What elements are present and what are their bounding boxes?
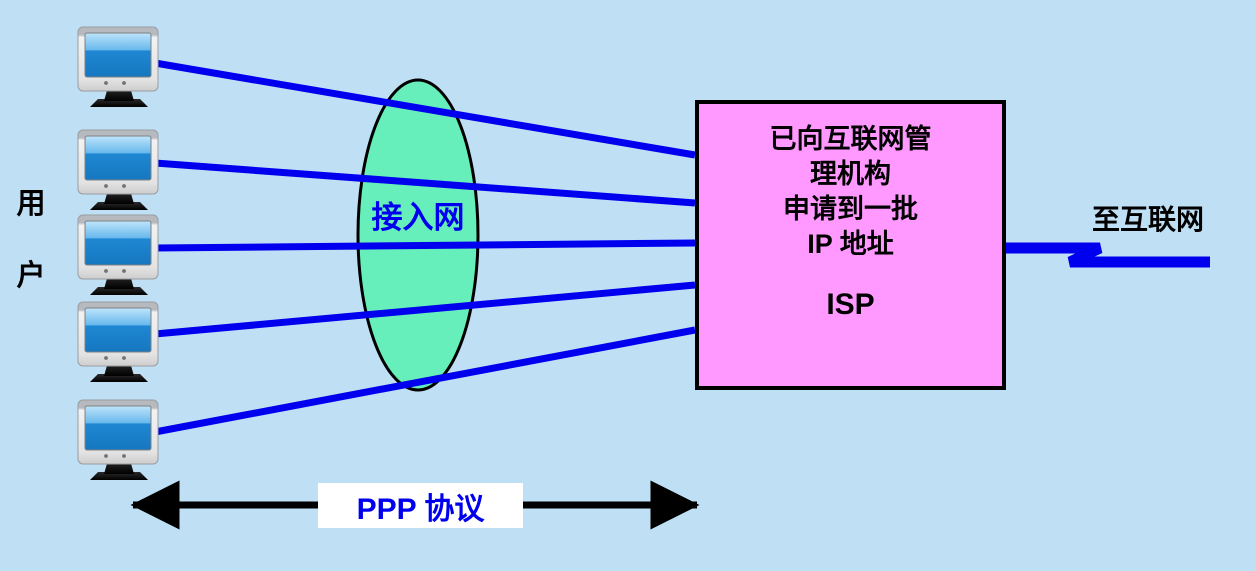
isp-description-line-1: 已向互联网管 — [770, 122, 932, 157]
desktop-computer-icon-5 — [78, 400, 158, 480]
isp-description-line-3: 申请到一批 — [783, 192, 918, 227]
user-label-char-2: 户 — [8, 262, 54, 291]
ppp-protocol-label: PPP 协议 — [318, 483, 523, 528]
monitor-button — [104, 356, 108, 360]
diagram-canvas — [0, 0, 1256, 571]
monitor-button — [122, 184, 126, 188]
desktop-computer-icon-2 — [78, 130, 158, 210]
monitor-screen — [85, 136, 151, 180]
user-computers — [78, 27, 158, 480]
access-network-label: 接入网 — [352, 201, 484, 235]
monitor-screen — [85, 308, 151, 352]
network-diagram: 用 户 接入网 已向互联网管 理机构 申请到一批 IP 地址 ISP 至互联网 … — [0, 0, 1256, 571]
monitor-button — [122, 454, 126, 458]
monitor-screen — [85, 406, 151, 450]
monitor-button — [104, 81, 108, 85]
user-label-char-1: 用 — [8, 190, 54, 219]
isp-description-line-2: 理机构 — [810, 157, 891, 192]
monitor-button — [104, 269, 108, 273]
isp-box: 已向互联网管 理机构 申请到一批 IP 地址 ISP — [695, 100, 1006, 390]
desktop-computer-icon-4 — [78, 302, 158, 382]
to-internet-link — [1006, 248, 1210, 262]
isp-description-line-4: IP 地址 — [807, 227, 894, 262]
user-link-line-3 — [155, 243, 695, 248]
monitor-button — [122, 81, 126, 85]
to-internet-label: 至互联网 — [1092, 198, 1204, 238]
monitor-button — [122, 356, 126, 360]
desktop-computer-icon-1 — [78, 27, 158, 107]
monitor-screen — [85, 221, 151, 265]
monitor-screen — [85, 33, 151, 77]
isp-name-label: ISP — [826, 288, 874, 322]
monitor-button — [122, 269, 126, 273]
desktop-computer-icon-3 — [78, 215, 158, 295]
monitor-button — [104, 184, 108, 188]
monitor-button — [104, 454, 108, 458]
